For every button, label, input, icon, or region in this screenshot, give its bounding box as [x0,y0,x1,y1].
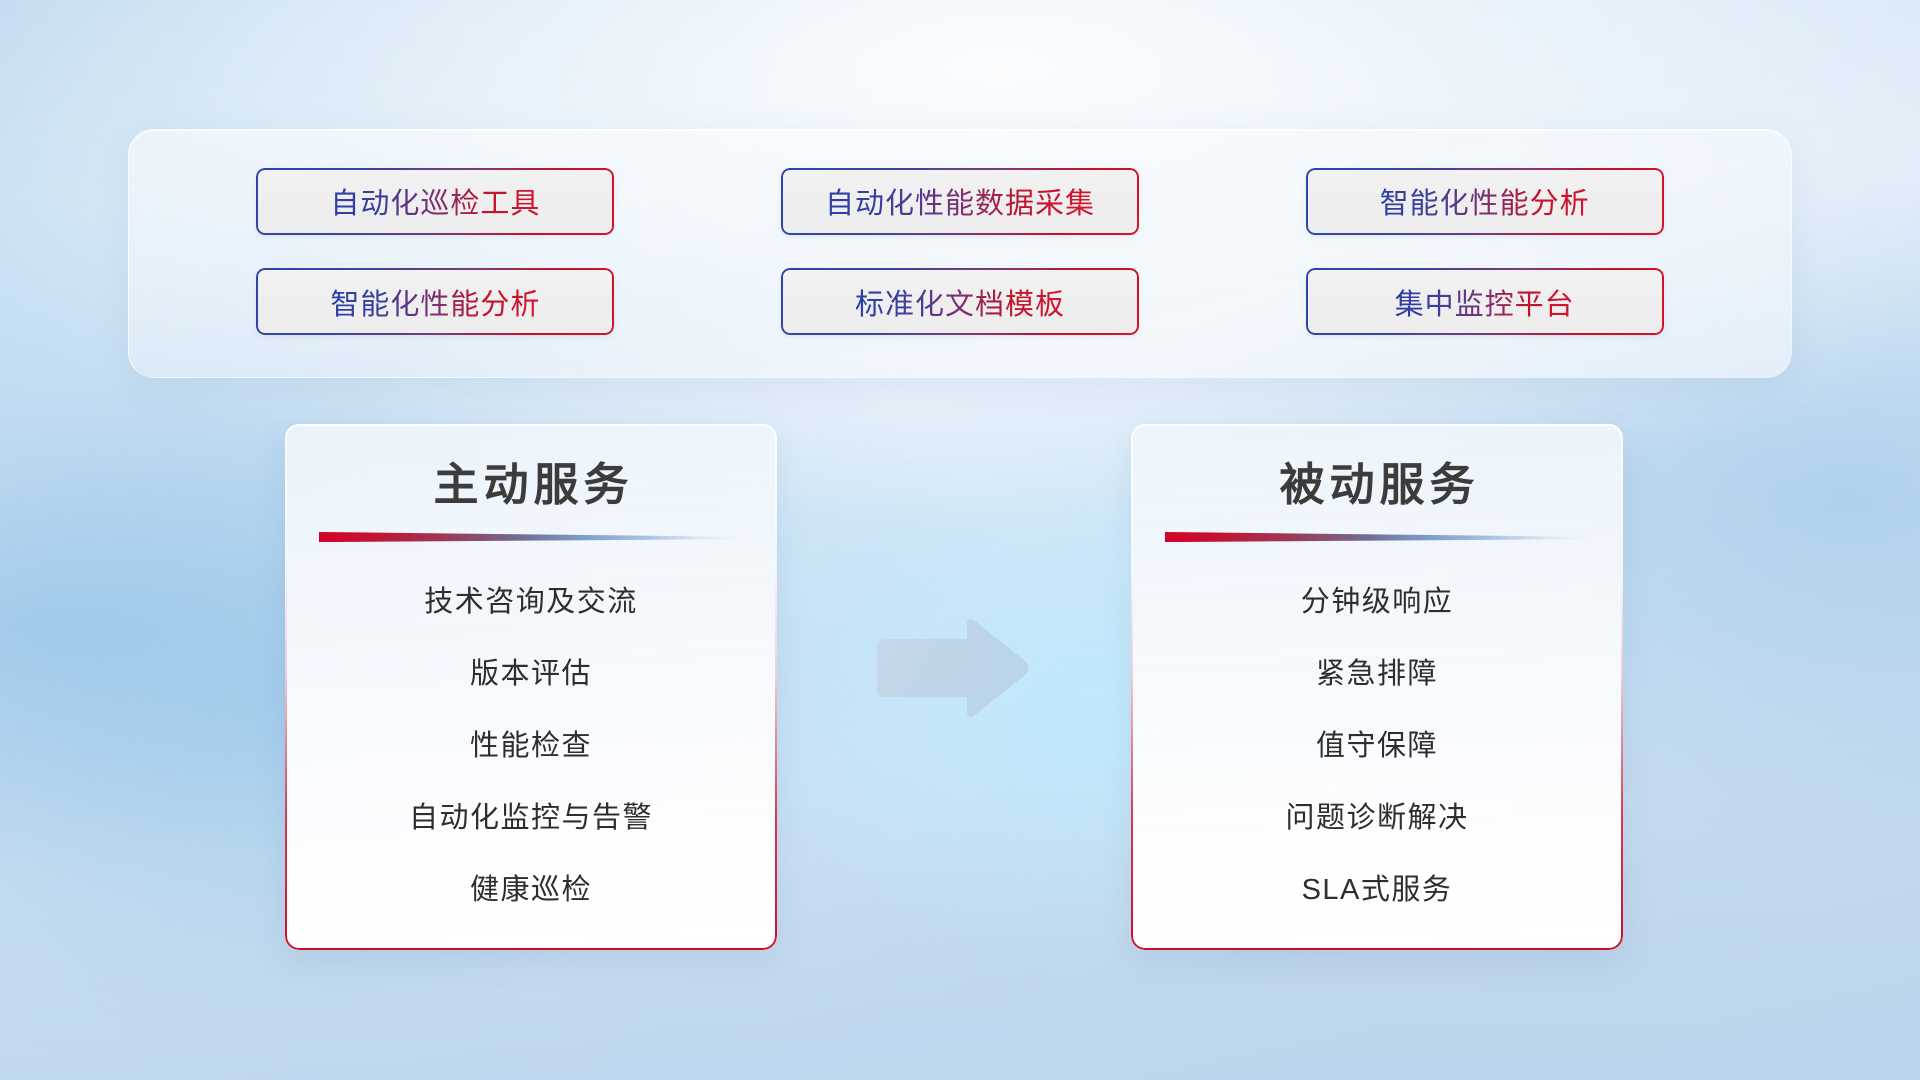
capability-pill-5[interactable]: 标准化文档模板 [781,268,1139,335]
divider-wedge [319,531,743,542]
divider-wedge [1165,531,1589,542]
service-card-divider [319,531,743,542]
capability-panel: 自动化巡检工具 自动化性能数据采集 智能化性能分析 智能化性能分析 标准化文档模… [128,129,1792,378]
capability-pill-1[interactable]: 自动化巡检工具 [256,168,614,235]
capability-pill-label: 集中监控平台 [1395,281,1575,323]
service-card-divider [1165,531,1589,542]
service-item-list: 分钟级响应 紧急排障 值守保障 问题诊断解决 SLA式服务 [1131,566,1623,926]
service-card-passive: 被动服务 分钟级响应 紧急排障 值守保障 问题诊断解决 SLA式服务 [1131,424,1623,950]
service-list-item: 紧急排障 [1316,638,1438,710]
service-list-item: 性能检查 [470,710,592,782]
arrow-shape [877,619,1029,718]
service-item-list: 技术咨询及交流 版本评估 性能检查 自动化监控与告警 健康巡检 [285,566,777,926]
service-list-item: 技术咨询及交流 [424,566,638,638]
service-list-item: 版本评估 [470,638,592,710]
capability-pill-label: 智能化性能分析 [1380,180,1590,222]
service-card-title: 被动服务 [1274,458,1479,511]
capability-pill-label: 自动化性能数据采集 [825,180,1095,222]
service-list-item: 值守保障 [1316,710,1438,782]
capability-pill-4[interactable]: 智能化性能分析 [256,268,614,335]
capability-pill-label: 自动化巡检工具 [330,180,540,222]
capability-pill-grid: 自动化巡检工具 自动化性能数据采集 智能化性能分析 智能化性能分析 标准化文档模… [129,130,1791,377]
capability-pill-3[interactable]: 智能化性能分析 [1306,168,1664,235]
service-list-item: 问题诊断解决 [1285,782,1468,854]
service-list-item: 分钟级响应 [1301,566,1454,638]
right-arrow-icon [871,613,1033,725]
service-card-body: 主动服务 技术咨询及交流 版本评估 性能检查 自动化监控与告警 健康巡检 [285,424,777,950]
capability-pill-label: 智能化性能分析 [330,281,540,323]
capability-pill-label: 标准化文档模板 [855,281,1065,323]
service-list-item: SLA式服务 [1302,854,1453,926]
service-card-title: 主动服务 [428,458,633,511]
service-list-item: 健康巡检 [470,854,592,926]
capability-pill-6[interactable]: 集中监控平台 [1306,268,1664,335]
service-card-body: 被动服务 分钟级响应 紧急排障 值守保障 问题诊断解决 SLA式服务 [1131,424,1623,950]
service-list-item: 自动化监控与告警 [409,782,653,854]
service-card-active: 主动服务 技术咨询及交流 版本评估 性能检查 自动化监控与告警 健康巡检 [285,424,777,950]
capability-pill-2[interactable]: 自动化性能数据采集 [781,168,1139,235]
